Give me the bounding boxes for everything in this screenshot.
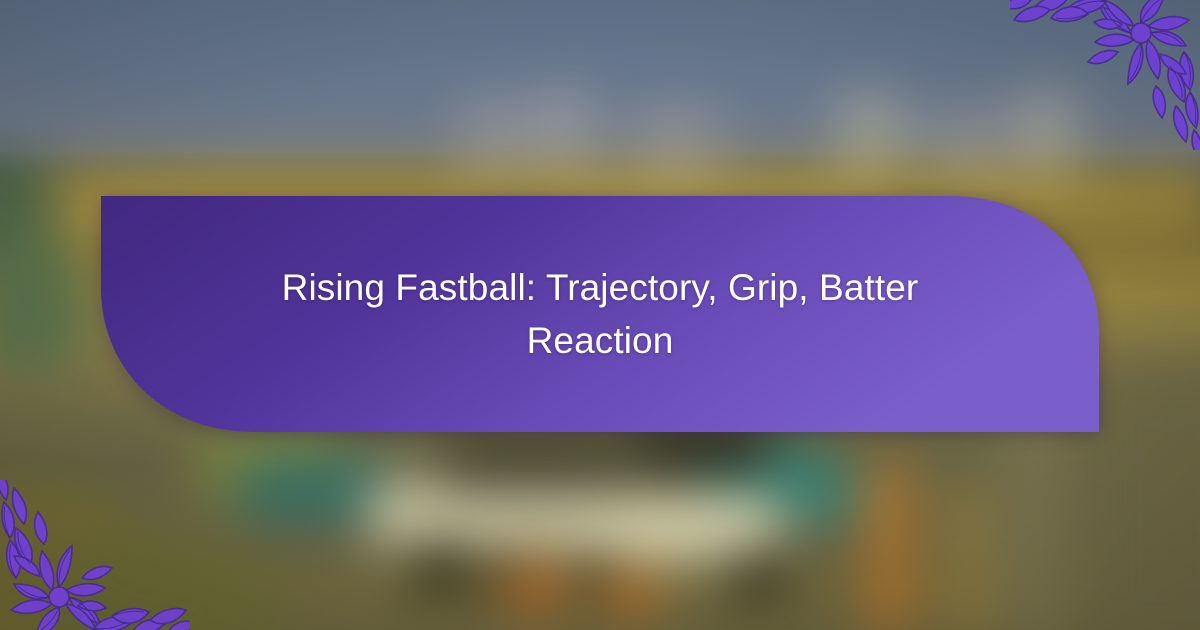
banner-text-area: Rising Fastball: Trajectory, Grip, Batte… xyxy=(100,196,1100,433)
social-card: Rising Fastball: Trajectory, Grip, Batte… xyxy=(0,0,1200,630)
title-banner: Rising Fastball: Trajectory, Grip, Batte… xyxy=(100,196,1100,433)
page-title: Rising Fastball: Trajectory, Grip, Batte… xyxy=(250,262,950,367)
